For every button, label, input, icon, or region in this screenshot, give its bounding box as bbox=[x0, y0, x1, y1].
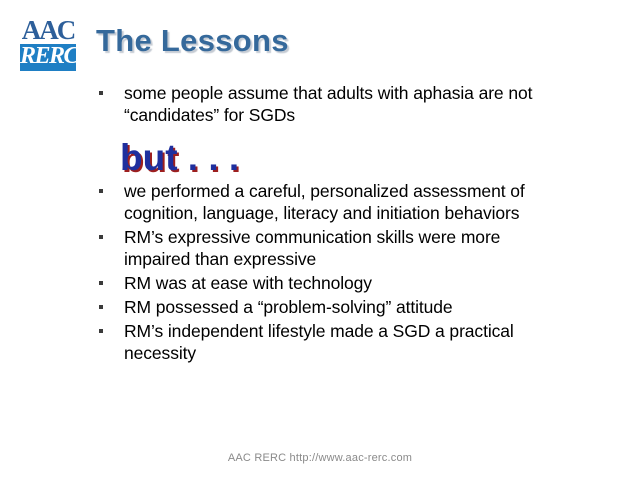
aac-rerc-logo: AAC RERC bbox=[20, 19, 76, 71]
logo-top-block: AAC bbox=[20, 19, 76, 45]
bullet-square-icon bbox=[99, 305, 103, 309]
bullet-square-icon bbox=[99, 329, 103, 333]
list-item-label: some people assume that adults with apha… bbox=[124, 82, 566, 126]
emphasis-text: but . . . bbox=[120, 137, 239, 179]
list-item: we performed a careful, personalized ass… bbox=[96, 180, 566, 224]
page-title: The Lessons bbox=[96, 23, 289, 59]
list-item-label: RM was at ease with technology bbox=[124, 272, 566, 294]
logo-aac-text: AAC bbox=[20, 19, 76, 45]
logo-rerc-text: RERC bbox=[20, 44, 76, 71]
list-item: RM possessed a “problem-solving” attitud… bbox=[96, 296, 566, 318]
list-item: some people assume that adults with apha… bbox=[96, 82, 566, 126]
list-item-label: we performed a careful, personalized ass… bbox=[124, 180, 566, 224]
list-item: RM’s independent lifestyle made a SGD a … bbox=[96, 320, 566, 364]
bullet-square-icon bbox=[99, 281, 103, 285]
list-item-label: RM’s independent lifestyle made a SGD a … bbox=[124, 320, 566, 364]
bullet-square-icon bbox=[99, 91, 103, 95]
lessons-bullet-list: some people assume that adults with apha… bbox=[96, 82, 566, 366]
presentation-slide: AAC RERC The Lessons some people assume … bbox=[0, 0, 640, 480]
slide-footer: AAC RERC http://www.aac-rerc.com bbox=[0, 452, 640, 464]
bullet-square-icon bbox=[99, 189, 103, 193]
list-item: RM was at ease with technology bbox=[96, 272, 566, 294]
logo-bottom-block: RERC bbox=[20, 44, 76, 71]
bullet-square-icon bbox=[99, 235, 103, 239]
list-item-label: RM’s expressive communication skills wer… bbox=[124, 226, 566, 270]
list-item-label: RM possessed a “problem-solving” attitud… bbox=[124, 296, 566, 318]
list-item: RM’s expressive communication skills wer… bbox=[96, 226, 566, 270]
